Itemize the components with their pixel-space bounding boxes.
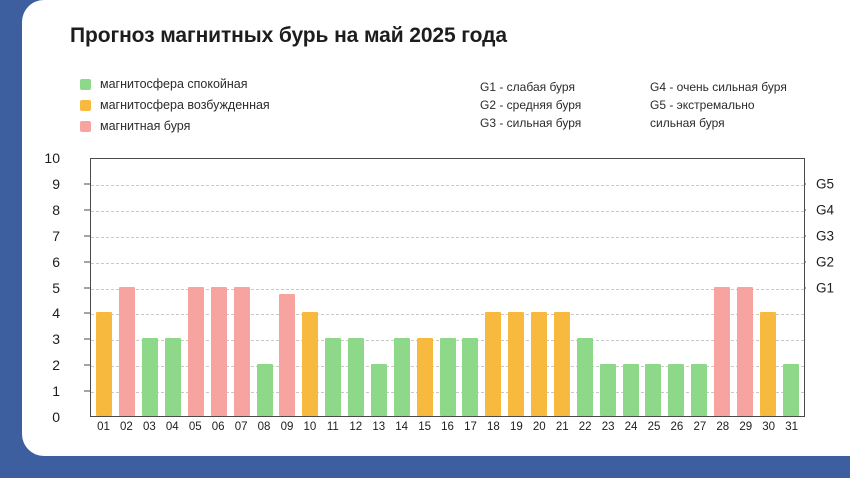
bar [737, 287, 753, 417]
y-axis-tick-label: 1 [34, 383, 60, 399]
x-axis-tick-label: 07 [230, 421, 253, 433]
bar-slot [711, 159, 734, 416]
x-axis-tick-label: 09 [276, 421, 299, 433]
bar-slot [230, 159, 253, 416]
storm-scale-item: G1 - слабая буря [480, 78, 581, 96]
y-axis-tick-label: 6 [34, 254, 60, 270]
x-axis-tick-label: 28 [711, 421, 734, 433]
x-axis-tick-label: 24 [620, 421, 643, 433]
y-axis-tick-label: 9 [34, 176, 60, 192]
bar-slot [528, 159, 551, 416]
x-axis-tick-label: 05 [184, 421, 207, 433]
bar [96, 312, 112, 416]
chart-card: Прогноз магнитных бурь на май 2025 года … [22, 0, 850, 456]
bar [417, 338, 433, 416]
g-scale-tick-label: G3 [816, 228, 834, 243]
bar [668, 364, 684, 416]
x-axis-tick-label: 13 [367, 421, 390, 433]
y-axis-tick-label: 3 [34, 331, 60, 347]
y-axis-tick-label: 5 [34, 280, 60, 296]
bar [348, 338, 364, 416]
bar-slot [390, 159, 413, 416]
bar-slot [93, 159, 116, 416]
bar-slot [139, 159, 162, 416]
bar [279, 294, 295, 416]
x-axis-tick-label: 27 [688, 421, 711, 433]
bar-slot [642, 159, 665, 416]
bar-slot [551, 159, 574, 416]
bar-slot [665, 159, 688, 416]
bar-slot [688, 159, 711, 416]
bar [371, 364, 387, 416]
x-axis-tick-label: 17 [459, 421, 482, 433]
storm-scale-item: G3 - сильная буря [480, 114, 581, 132]
y-axis-tick-label: 7 [34, 228, 60, 244]
legend-item-label: магнитосфера возбужденная [100, 98, 270, 112]
bar [645, 364, 661, 416]
bar-slot [573, 159, 596, 416]
bar [485, 312, 501, 416]
legend-item: магнитосфера спокойная [80, 75, 410, 93]
y-axis-tick-label: 0 [34, 409, 60, 425]
storm-scale-item: G5 - экстремально сильная буря [650, 96, 787, 132]
x-axis-tick-label: 04 [161, 421, 184, 433]
bar-slot [253, 159, 276, 416]
bar-slot [368, 159, 391, 416]
page-title: Прогноз магнитных бурь на май 2025 года [70, 24, 507, 48]
legend-item: магнитосфера возбужденная [80, 96, 410, 114]
bar [462, 338, 478, 416]
bar [302, 312, 318, 416]
g-scale-tick-label: G1 [816, 280, 834, 295]
color-legend: магнитосфера спокойнаямагнитосфера возбу… [80, 75, 410, 138]
x-axis-tick-label: 22 [574, 421, 597, 433]
bar-series [91, 159, 804, 416]
x-axis-tick-label: 16 [436, 421, 459, 433]
bar-slot [207, 159, 230, 416]
legend-item-label: магнитосфера спокойная [100, 77, 248, 91]
x-axis-tick-label: 03 [138, 421, 161, 433]
bar [142, 338, 158, 416]
bar [508, 312, 524, 416]
bar [211, 287, 227, 417]
x-axis-tick-label: 20 [528, 421, 551, 433]
legend-item-label: магнитная буря [100, 119, 190, 133]
storm-scale-item: G4 - очень сильная буря [650, 78, 787, 96]
bar-slot [413, 159, 436, 416]
bar-slot [482, 159, 505, 416]
bar-slot [162, 159, 185, 416]
bar-slot [185, 159, 208, 416]
y-axis-tick-label: 2 [34, 357, 60, 373]
bar-slot [276, 159, 299, 416]
x-axis-labels: 0102030405060708091011121314151617181920… [90, 421, 805, 433]
bar [760, 312, 776, 416]
bar-slot [619, 159, 642, 416]
bar-slot [596, 159, 619, 416]
bar [554, 312, 570, 416]
y-axis-tick-label: 4 [34, 305, 60, 321]
x-axis-tick-label: 14 [390, 421, 413, 433]
x-axis-tick-label: 15 [413, 421, 436, 433]
x-axis-tick-label: 29 [734, 421, 757, 433]
bar-slot [299, 159, 322, 416]
bar-slot [436, 159, 459, 416]
bar [691, 364, 707, 416]
storm-scale-legend-right: G4 - очень сильная буряG5 - экстремально… [650, 78, 787, 132]
bar-slot [734, 159, 757, 416]
x-axis-tick-label: 11 [321, 421, 344, 433]
bar [325, 338, 341, 416]
x-axis-tick-label: 08 [253, 421, 276, 433]
bar-slot [459, 159, 482, 416]
bar-slot [779, 159, 802, 416]
x-axis-tick-label: 10 [298, 421, 321, 433]
bar [188, 287, 204, 417]
x-axis-tick-label: 19 [505, 421, 528, 433]
bar [440, 338, 456, 416]
bar [165, 338, 181, 416]
x-axis-tick-label: 30 [757, 421, 780, 433]
x-axis-tick-label: 01 [92, 421, 115, 433]
x-axis-tick-label: 31 [780, 421, 803, 433]
g-scale-tick-label: G4 [816, 202, 834, 217]
x-axis-tick-label: 26 [665, 421, 688, 433]
plot-area [90, 158, 805, 417]
x-axis-tick-label: 18 [482, 421, 505, 433]
legend-swatch-icon [80, 79, 91, 90]
legend-swatch-icon [80, 100, 91, 111]
g-scale-tick-label: G2 [816, 254, 834, 269]
x-axis-tick-label: 25 [643, 421, 666, 433]
bar [577, 338, 593, 416]
bar-slot [116, 159, 139, 416]
y-axis-tick-label: 8 [34, 202, 60, 218]
bar-slot [322, 159, 345, 416]
y-axis-tick-label: 10 [34, 150, 60, 166]
bar-slot [345, 159, 368, 416]
legend-item: магнитная буря [80, 117, 410, 135]
bar [783, 364, 799, 416]
x-axis-tick-label: 23 [597, 421, 620, 433]
x-axis-tick-label: 02 [115, 421, 138, 433]
x-axis-tick-label: 12 [344, 421, 367, 433]
x-axis-tick-label: 21 [551, 421, 574, 433]
bar [600, 364, 616, 416]
bar [623, 364, 639, 416]
bar [394, 338, 410, 416]
bar [119, 287, 135, 417]
bar [714, 287, 730, 417]
legend-swatch-icon [80, 121, 91, 132]
g-scale-tick-label: G5 [816, 176, 834, 191]
x-axis-tick-label: 06 [207, 421, 230, 433]
bar-slot [505, 159, 528, 416]
storm-scale-item: G2 - средняя буря [480, 96, 581, 114]
bar [531, 312, 547, 416]
bar [257, 364, 273, 416]
bar-slot [756, 159, 779, 416]
storm-scale-legend-left: G1 - слабая буряG2 - средняя буряG3 - си… [480, 78, 581, 132]
bar [234, 287, 250, 417]
